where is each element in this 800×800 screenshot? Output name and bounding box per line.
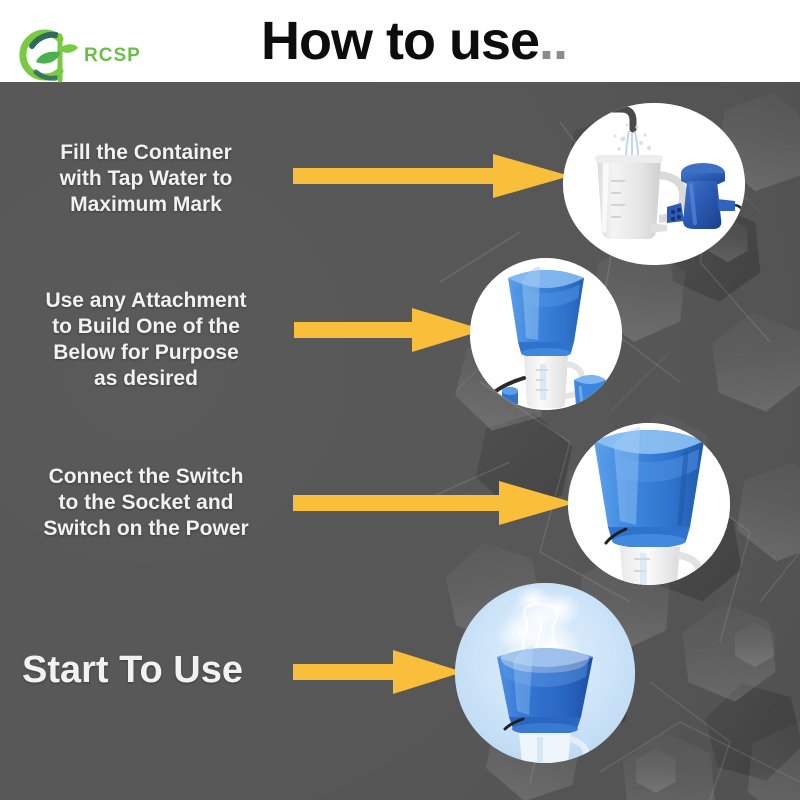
steamer-with-attachments-photo [470,258,622,410]
step-4-text: Start To Use [0,648,270,692]
step-2-arrow [294,306,484,354]
container-filling-with-water-photo [563,103,745,265]
step-3-photo [568,423,730,585]
step-2-line-3: Below for Purpose [0,340,292,366]
steamer-connected-to-power-photo [568,423,730,585]
page-title-dots: .. [539,11,567,71]
step-2-line-1: Use any Attachment [0,288,292,314]
step-3-line-3: Switch on the Power [0,516,292,542]
step-4-arrow [293,648,463,696]
step-3-line-1: Connect the Switch [0,464,292,490]
right-arrow-icon [294,306,484,354]
right-arrow-icon [293,648,463,696]
step-1-line-3: Maximum Mark [0,192,292,218]
step-2-line-2: to Build One of the [0,314,292,340]
right-arrow-icon [293,479,575,527]
step-3-arrow [293,479,575,527]
step-1-line-2: with Tap Water to [0,166,292,192]
step-3-text: Connect the Switch to the Socket and Swi… [0,464,292,542]
header-band: RCSP How to use.. [0,0,800,82]
step-1-line-1: Fill the Container [0,140,292,166]
steamer-producing-steam-photo [455,583,635,763]
how-to-use-infographic: RCSP How to use.. Fill the Container wit… [0,0,800,800]
step-4-line-1: Start To Use [22,648,270,692]
step-1-photo [563,103,745,265]
step-3-line-2: to the Socket and [0,490,292,516]
step-2-text: Use any Attachment to Build One of the B… [0,288,292,392]
step-4-photo [455,583,635,763]
step-2-photo [470,258,622,410]
page-title-main: How to use [261,11,539,71]
page-title: How to use.. [0,0,800,82]
right-arrow-icon [293,152,570,200]
step-1-arrow [293,152,570,200]
step-2-line-4: as desired [0,366,292,392]
step-1-text: Fill the Container with Tap Water to Max… [0,140,292,218]
